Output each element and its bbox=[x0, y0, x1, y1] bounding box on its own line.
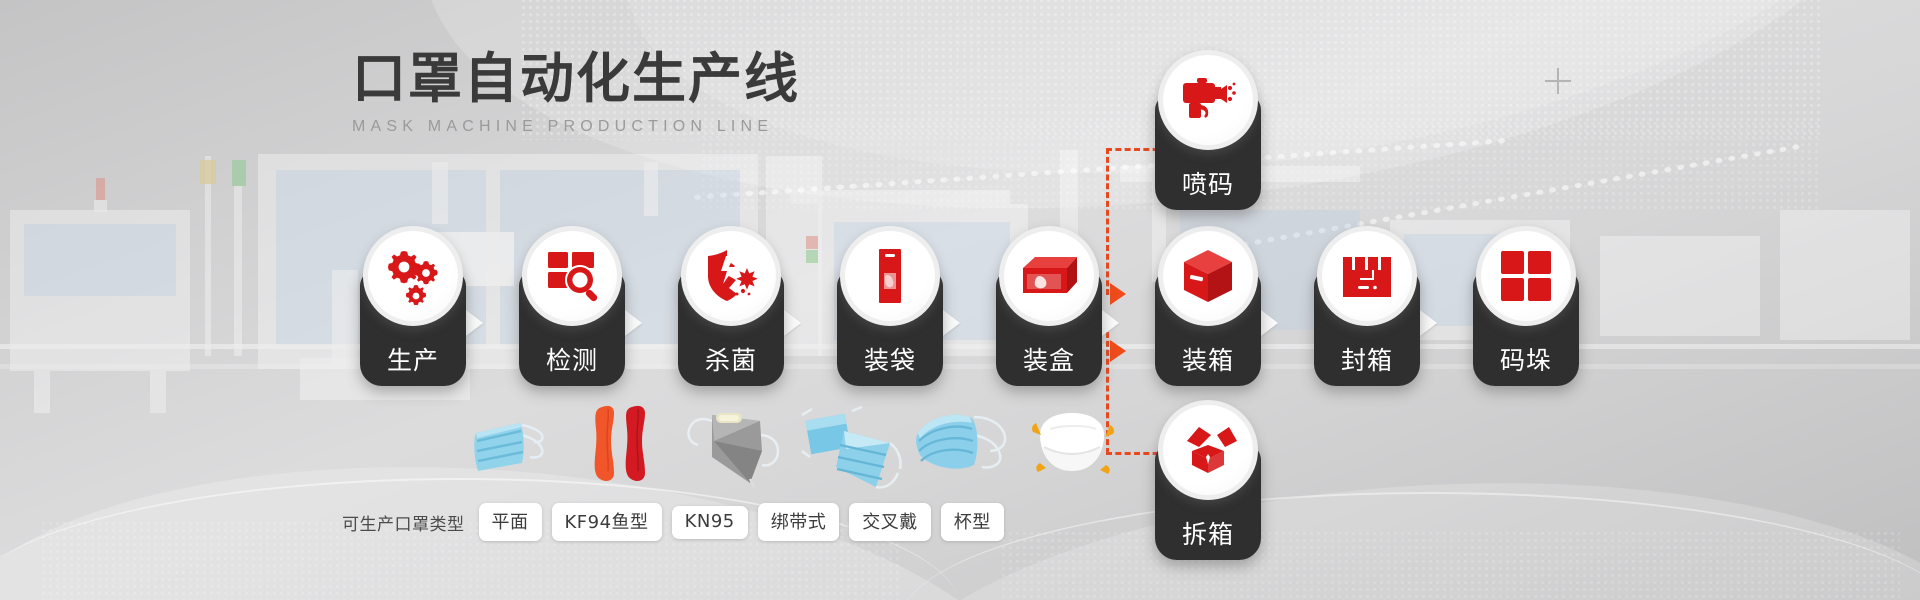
flat-surgical-mask-photo bbox=[470, 409, 564, 494]
plus-crosshair-mark bbox=[1545, 68, 1571, 94]
step-label: 拆箱 bbox=[1155, 515, 1261, 551]
flow-arrow bbox=[784, 310, 801, 336]
banner-stage: 口罩自动化生产线 MASK MACHINE PRODUCTION LINE 生产 bbox=[0, 0, 1920, 600]
step-label: 喷码 bbox=[1155, 165, 1261, 201]
flow-arrow bbox=[466, 310, 483, 336]
page-title-block: 口罩自动化生产线 MASK MACHINE PRODUCTION LINE bbox=[352, 50, 800, 136]
step-badge bbox=[681, 226, 781, 326]
step-label: 封箱 bbox=[1314, 341, 1420, 377]
page-title: 口罩自动化生产线 bbox=[352, 50, 800, 108]
step-label: 装箱 bbox=[1155, 341, 1261, 377]
step-badge bbox=[840, 226, 940, 326]
kn95-valve-mask-photo bbox=[682, 405, 794, 494]
flow-arrow bbox=[625, 310, 642, 336]
flow-arrow bbox=[943, 310, 960, 336]
case-packing-cube-icon bbox=[1181, 248, 1235, 304]
branch-arrow-into-case-packing-bottom bbox=[1110, 340, 1126, 362]
step-label: 装袋 bbox=[837, 341, 943, 377]
mask-type-gallery bbox=[470, 402, 1030, 494]
gears-icon bbox=[384, 247, 442, 305]
tie-on-mask-photo bbox=[800, 405, 910, 494]
flow-arrow bbox=[1261, 310, 1278, 336]
step-label: 装盒 bbox=[996, 341, 1102, 377]
mask-type-tag[interactable]: 平面 bbox=[479, 503, 542, 541]
boxing-carton-icon bbox=[1019, 252, 1079, 300]
step-badge bbox=[1158, 400, 1258, 500]
shield-sterilize-icon bbox=[703, 248, 759, 304]
mask-type-tag[interactable]: 绑带式 bbox=[758, 503, 840, 541]
bagging-pouch-icon bbox=[865, 247, 915, 305]
mask-type-tag[interactable]: 交叉戴 bbox=[849, 503, 931, 541]
palletizing-grid-icon bbox=[1500, 250, 1552, 302]
step-label: 生产 bbox=[360, 341, 466, 377]
branch-arrow-into-case-packing-top bbox=[1110, 283, 1126, 305]
flow-arrow bbox=[1420, 310, 1437, 336]
step-badge bbox=[363, 226, 463, 326]
mask-type-tag[interactable]: KF94鱼型 bbox=[552, 503, 662, 541]
ear-loop-mask-photo bbox=[910, 407, 1022, 494]
step-label: 码垛 bbox=[1473, 341, 1579, 377]
step-label: 杀菌 bbox=[678, 341, 784, 377]
open-box-icon bbox=[1179, 425, 1237, 475]
cup-type-mask-photo bbox=[1026, 409, 1120, 494]
inkjet-spray-gun-icon bbox=[1179, 74, 1237, 126]
inspection-magnifier-icon bbox=[543, 247, 601, 305]
page-subtitle: MASK MACHINE PRODUCTION LINE bbox=[352, 118, 800, 136]
branch-connector-vertical-top bbox=[1106, 148, 1109, 295]
step-badge bbox=[1476, 226, 1576, 326]
step-badge bbox=[522, 226, 622, 326]
step-label: 检测 bbox=[519, 341, 625, 377]
step-badge bbox=[1158, 226, 1258, 326]
flow-arrow bbox=[1102, 310, 1119, 336]
kf94-fish-type-mask-photo bbox=[586, 401, 658, 494]
carton-sealing-icon bbox=[1339, 251, 1395, 301]
mask-types-label: 可生产口罩类型 bbox=[342, 510, 465, 535]
step-badge bbox=[1158, 50, 1258, 150]
step-badge bbox=[999, 226, 1099, 326]
step-badge bbox=[1317, 226, 1417, 326]
mask-types-row: 可生产口罩类型 平面 KF94鱼型 KN95 绑带式 交叉戴 杯型 bbox=[342, 503, 1004, 541]
mask-type-tag[interactable]: KN95 bbox=[672, 506, 748, 539]
mask-type-tag[interactable]: 杯型 bbox=[941, 503, 1004, 541]
